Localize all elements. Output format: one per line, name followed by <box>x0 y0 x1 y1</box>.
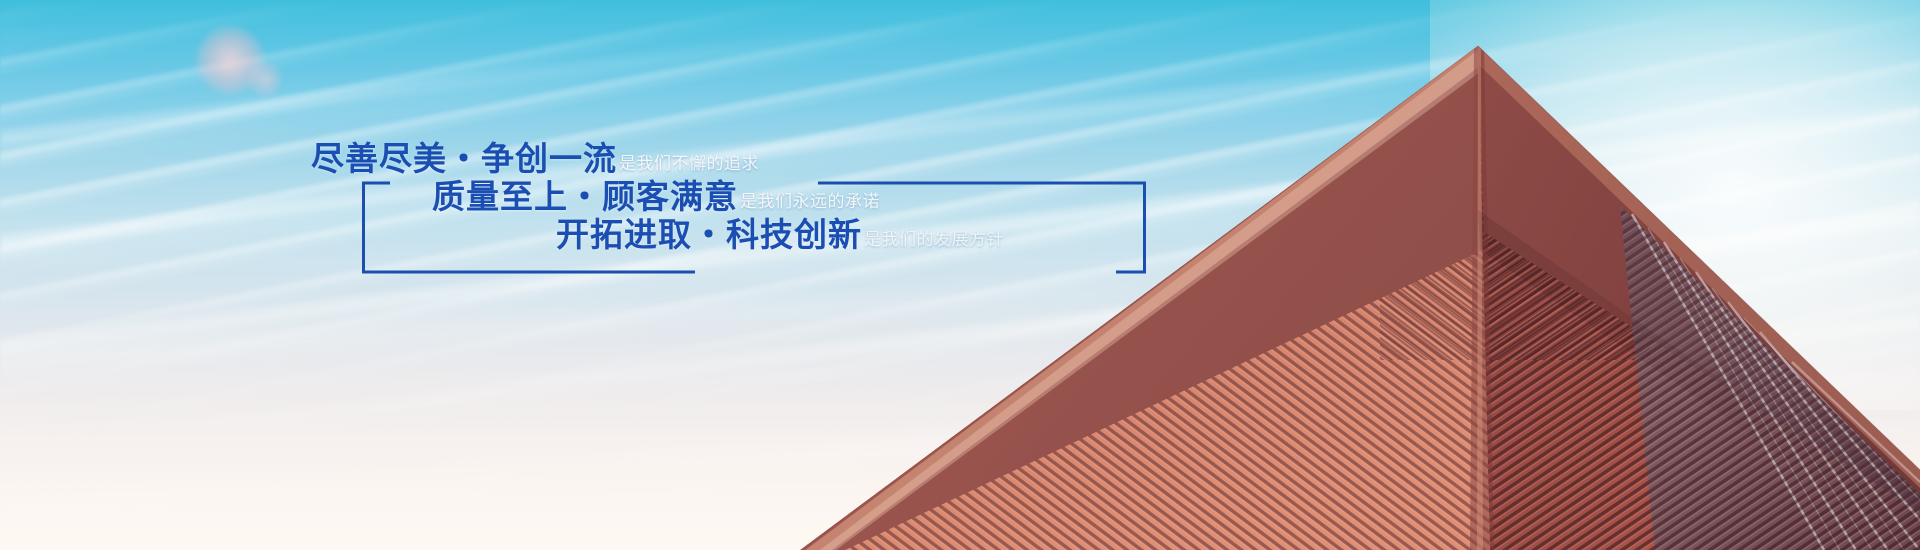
banner-stage: 尽善尽美・争创一流 是我们不懈的追求 质量至上・顾客满意 是我们永远的承诺 开拓… <box>0 0 1920 550</box>
slogan-line-3: 开拓进取・科技创新 是我们的发展方针 <box>556 208 1004 256</box>
slogan-block: 尽善尽美・争创一流 是我们不懈的追求 质量至上・顾客满意 是我们永远的承诺 开拓… <box>0 0 1920 550</box>
slogan-3-sub: 是我们的发展方针 <box>864 225 1004 250</box>
slogan-3-main: 开拓进取・科技创新 <box>556 208 862 256</box>
